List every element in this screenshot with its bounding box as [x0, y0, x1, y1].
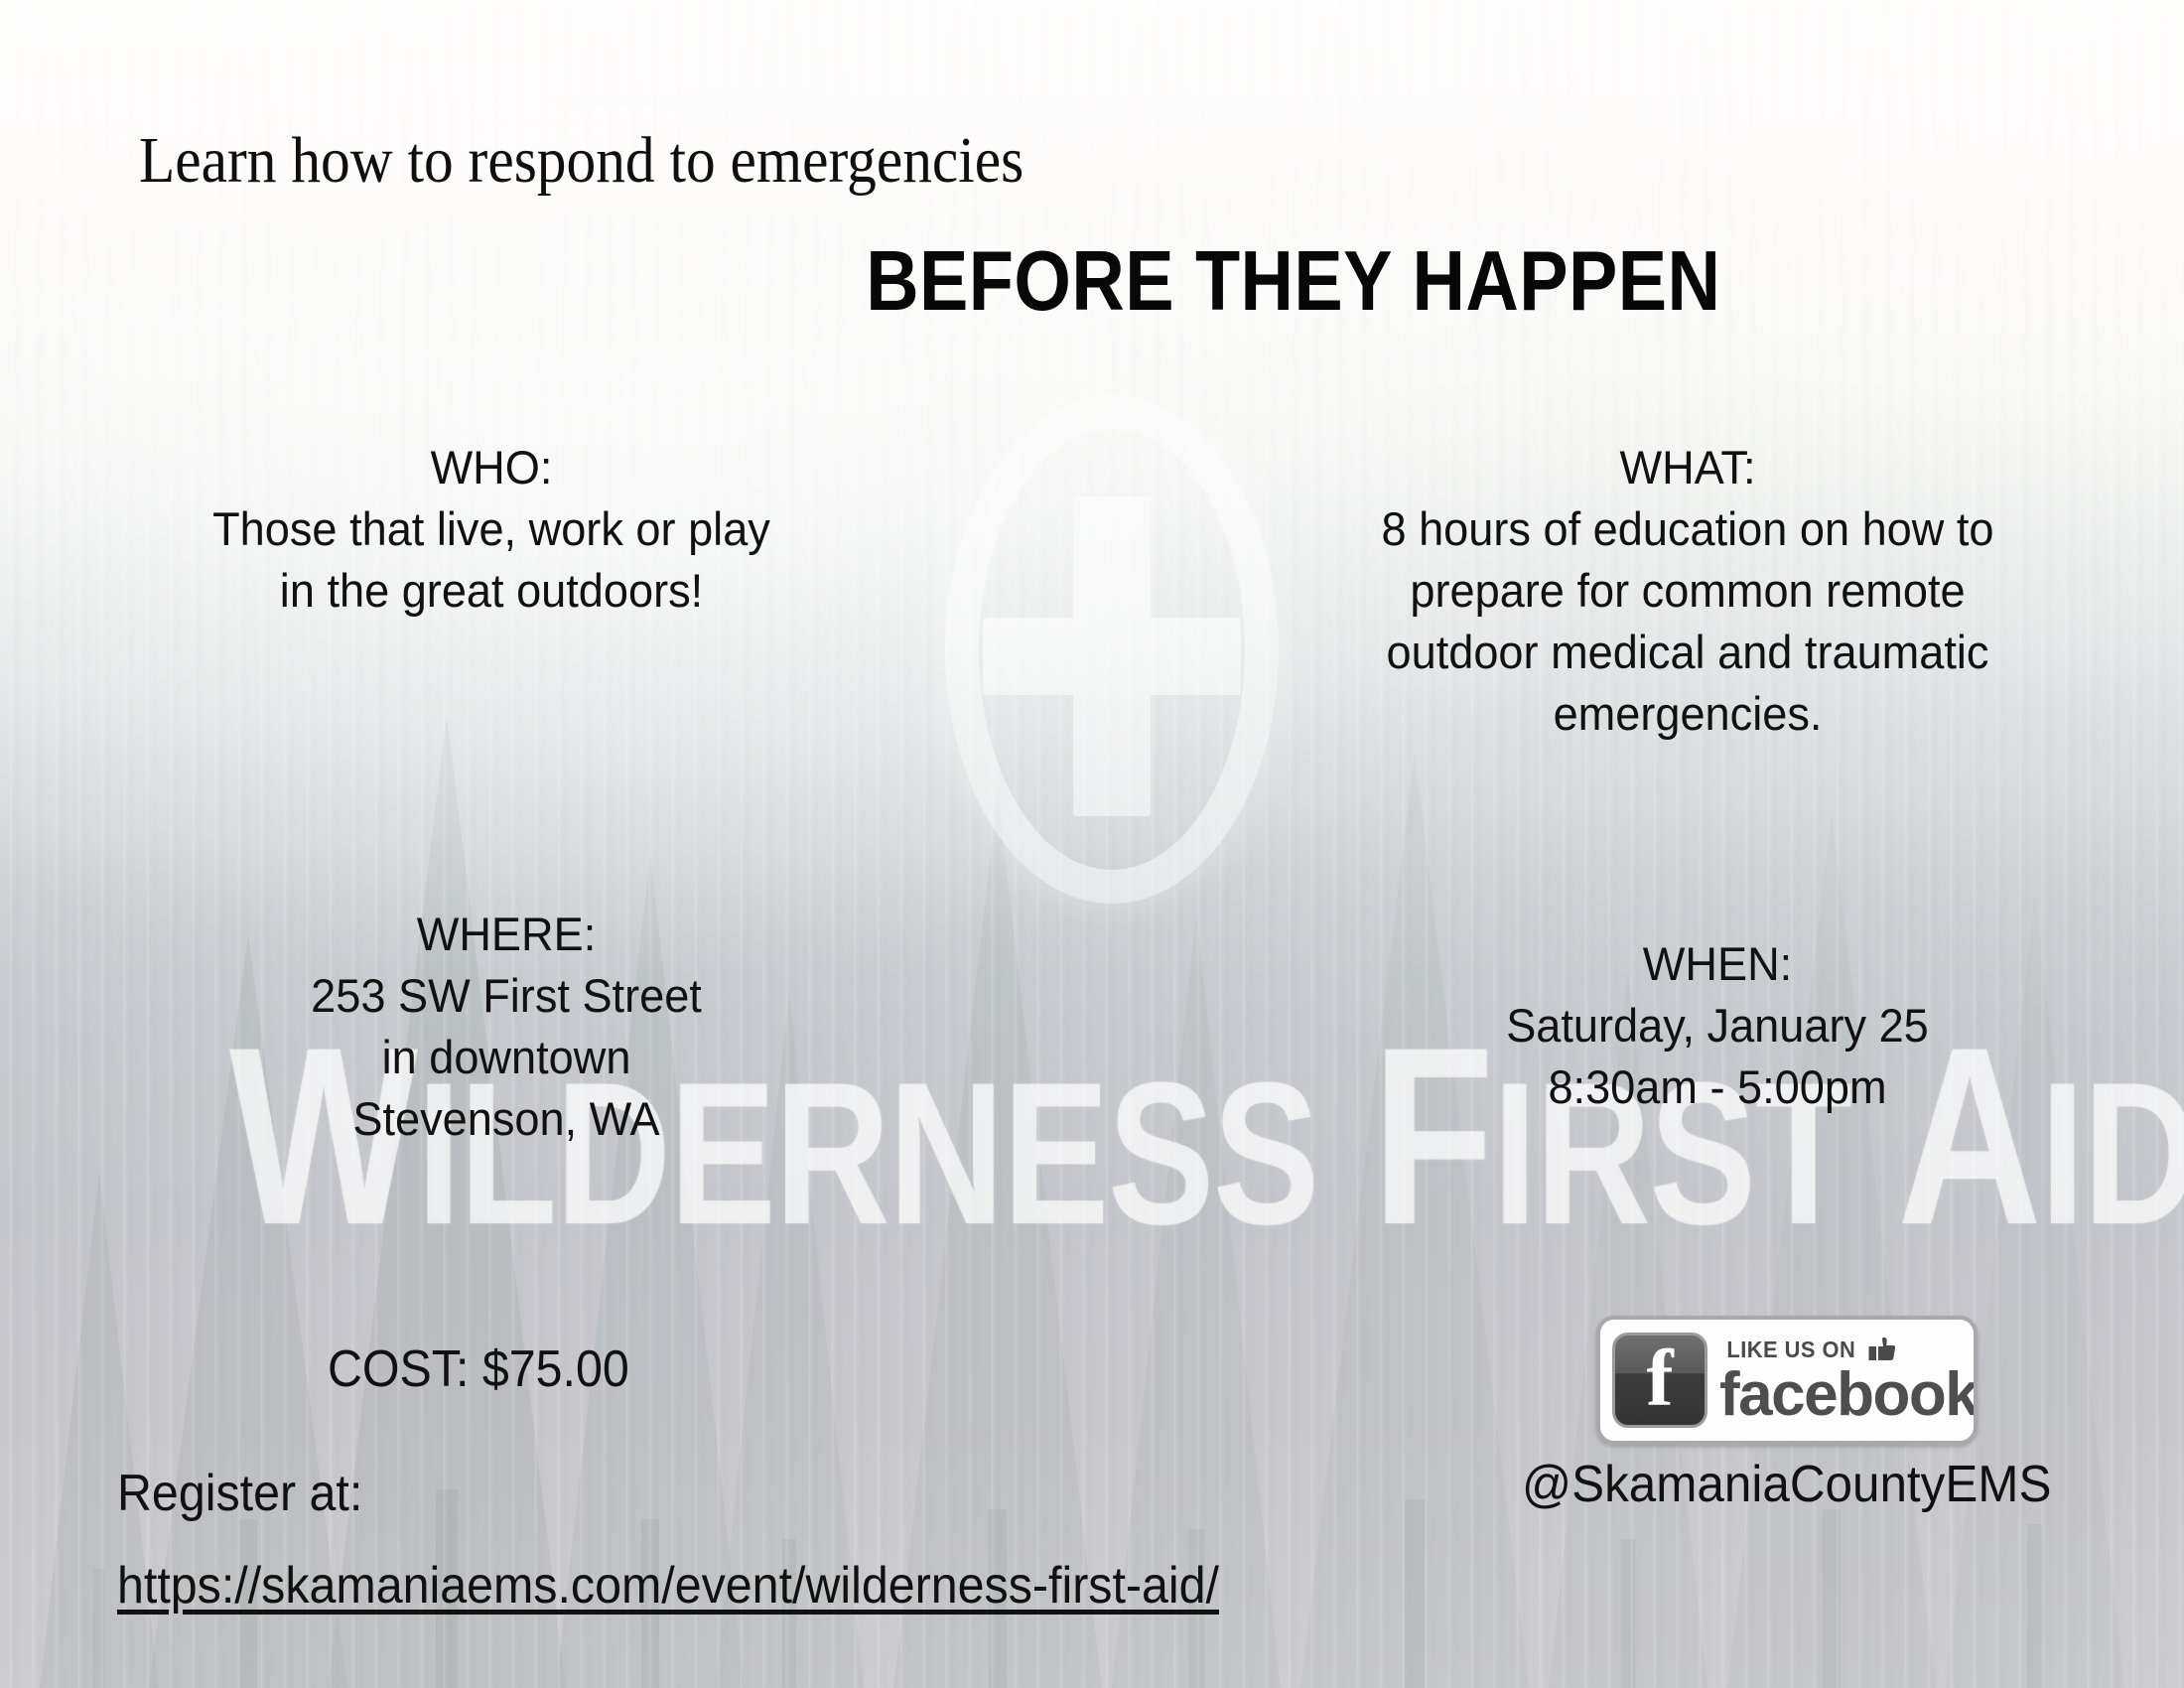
when-line-2: 8:30am - 5:00pm: [1422, 1056, 2012, 1118]
registration-url-link[interactable]: https://skamaniaems.com/event/wilderness…: [117, 1557, 1219, 1615]
thumbs-up-icon: [1868, 1336, 1896, 1362]
where-block: WHERE: 253 SW First Street in downtown S…: [202, 904, 811, 1150]
where-line-3: Stevenson, WA: [202, 1088, 811, 1150]
facebook-like-badge[interactable]: LIKE US ON facebook: [1596, 1316, 1978, 1445]
who-block: WHO: Those that live, work or play in th…: [158, 437, 825, 622]
when-block: WHEN: Saturday, January 25 8:30am - 5:00…: [1422, 933, 2012, 1118]
where-line-2: in downtown: [202, 1027, 811, 1088]
when-line-1: Saturday, January 25: [1422, 995, 2012, 1056]
what-line-1: 8 hours of education on how to: [1306, 498, 2069, 560]
what-label: WHAT:: [1306, 437, 2069, 498]
headline-serif: Learn how to respond to emergencies: [139, 125, 1024, 197]
facebook-brand-label: facebook: [1719, 1365, 1978, 1425]
who-line-2: in the great outdoors!: [158, 560, 825, 622]
what-line-4: emergencies.: [1306, 683, 2069, 745]
facebook-f-icon: [1612, 1333, 1707, 1428]
what-line-2: prepare for common remote: [1306, 560, 2069, 622]
like-us-on-label: LIKE US ON: [1726, 1336, 1855, 1363]
what-line-3: outdoor medical and traumatic: [1306, 622, 2069, 683]
what-block: WHAT: 8 hours of education on how to pre…: [1306, 437, 2069, 745]
who-label: WHO:: [158, 437, 825, 498]
flyer-canvas: WILDERNESS FIRST AID Learn how to respon…: [0, 0, 2184, 1688]
when-label: WHEN:: [1422, 933, 2012, 995]
register-label: Register at:: [117, 1465, 362, 1522]
headline-bold: BEFORE THEY HAPPEN: [866, 236, 1626, 328]
where-line-1: 253 SW First Street: [202, 965, 811, 1027]
cost-text: COST: $75.00: [328, 1340, 629, 1398]
who-line-1: Those that live, work or play: [158, 498, 825, 560]
where-label: WHERE:: [202, 904, 811, 965]
facebook-handle: @SkamaniaCountyEMS: [1522, 1455, 2012, 1514]
